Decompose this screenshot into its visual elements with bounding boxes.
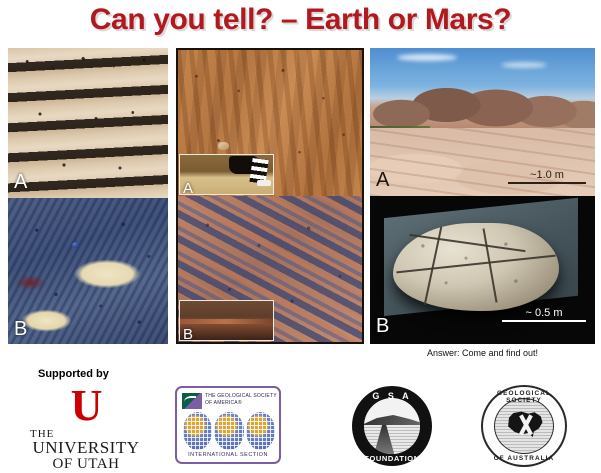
figure-column-right: A ~1.0 m B ~ 0.5 m [370,48,595,344]
river-icon [364,425,420,454]
gsa-aus-top-text: GEOLOGICAL SOCIETY [483,390,565,404]
cracked-boulder [393,223,560,312]
photo-right-b: B ~ 0.5 m [370,196,595,344]
gsa-aus-inner-ring [494,398,554,454]
gsa-aus-outer-ring: GEOLOGICAL SOCIETY OF AUSTRALIA [481,385,567,467]
scale-bar-label: ~ 0.5 m [526,307,563,319]
globe-icon [183,412,212,450]
gsa-intl-title: THE GEOLOGICAL SOCIETY OF AMERICA® [205,393,279,407]
inset-photo-middle-b: B [179,300,274,341]
gsa-aus-bottom-text: OF AUSTRALIA [483,455,565,462]
scale-bar-label: ~1.0 m [530,169,564,181]
panel-label-right-a: A [376,169,389,192]
grain-texture [8,198,168,344]
panel-label-left-a: A [14,171,27,194]
gsa-foundation-top-text: G S A [352,391,432,401]
scale-bar-line [508,182,586,184]
title-bar: Can you tell? – Earth or Mars? [0,0,601,44]
inset-photo-middle-a: A [179,154,274,195]
logo-gsa-foundation: G S A FOUNDATION [350,384,434,468]
cloud [397,54,457,61]
panel-label-left-b: B [14,318,27,341]
supporter-logo-row: U THE UNIVERSITY OF UTAH THE GEOLOGICAL … [0,384,601,472]
blue-grain [72,242,79,248]
photo-middle-b: B [178,196,362,342]
answer-note: Answer: Come and find out! [370,348,595,358]
inset-marker [257,180,271,186]
photo-left-a: A [8,48,168,198]
gsa-foundation-bottom-text: FOUNDATION [352,454,432,463]
scale-bar-right-a: ~1.0 m [508,169,586,184]
panel-label-right-b: B [376,315,389,338]
globe-icon [214,412,243,450]
panel-label-middle-a: A [183,180,193,195]
panel-label-middle-b: B [183,326,193,341]
scale-bar-line [502,320,586,322]
gsa-foundation-ring: G S A FOUNDATION [352,386,432,466]
logo-geological-society-of-australia: GEOLOGICAL SOCIETY OF AUSTRALIA [480,384,568,468]
utah-u-mark: U [63,388,109,426]
crossed-hammers-icon [515,414,535,436]
scale-bar-right-b: ~ 0.5 m [502,307,586,322]
gravel-texture [8,48,168,198]
gsa-foundation-scene [364,398,420,454]
logo-gsa-international-section: THE GEOLOGICAL SOCIETY OF AMERICA® INTER… [175,386,281,464]
cloud [501,62,547,68]
comparison-figure: A B A B [0,46,601,346]
utah-line-of-utah: OF UTAH [22,456,150,473]
page-title: Can you tell? – Earth or Mars? [0,3,601,37]
supported-by-heading: Supported by [38,368,109,380]
figure-column-middle: A B [176,48,364,344]
slickrock-foreground [370,128,595,196]
photo-right-a: A ~1.0 m [370,48,595,196]
logo-university-of-utah: U THE UNIVERSITY OF UTAH [22,384,150,468]
photo-left-b: B [8,198,168,344]
figure-column-left: A B [8,48,168,344]
globe-icon [246,412,275,450]
gsa-wave-icon [182,393,202,409]
utah-line-university: UNIVERSITY [22,438,150,458]
inset-bedding-band [180,319,273,324]
photo-middle-a: A [178,50,362,196]
globe-icons [183,412,275,450]
gsa-intl-subtitle: INTERNATIONAL SECTION [177,452,279,458]
